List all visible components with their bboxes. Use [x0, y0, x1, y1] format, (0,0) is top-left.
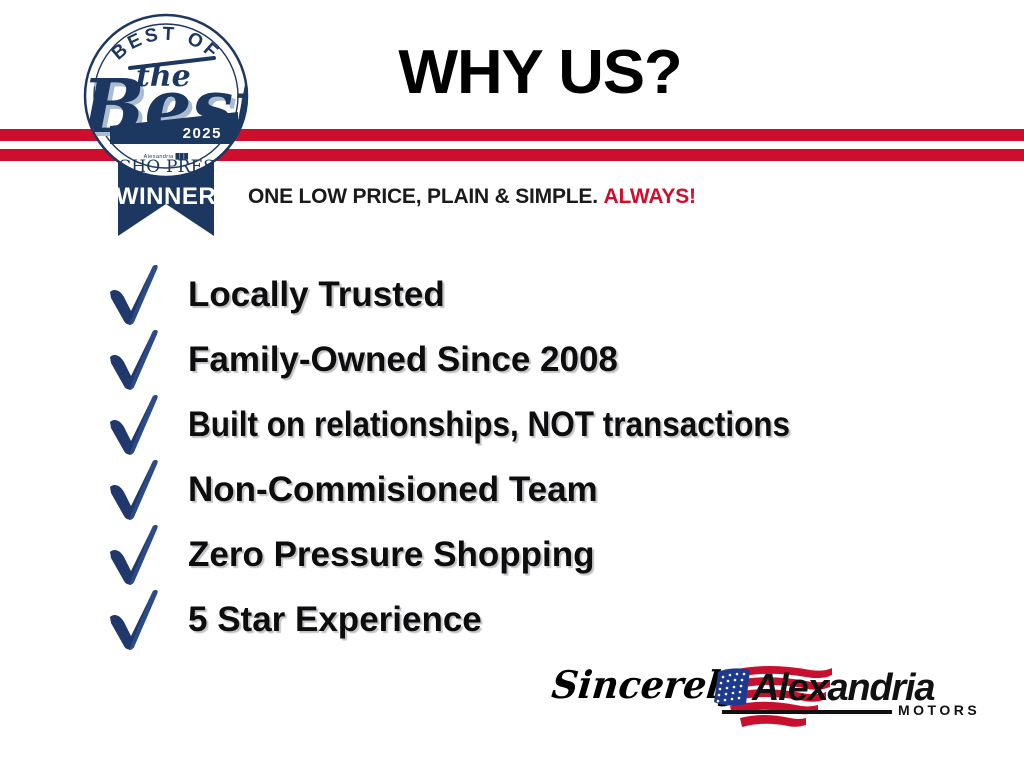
list-item: 5 Star Experience: [104, 587, 1004, 652]
page-title: WHY US?: [326, 42, 754, 104]
badge-ribbon-label: WINNER: [116, 183, 216, 210]
tagline-main: ONE LOW PRICE, PLAIN & SIMPLE.: [248, 185, 598, 208]
checkmark-icon: [104, 524, 170, 586]
badge-graphic: WINNER BEST OF Best Best the: [62, 8, 270, 236]
list-item-label: 5 Star Experience: [188, 599, 482, 641]
tagline: ONE LOW PRICE, PLAIN & SIMPLE. ALWAYS!: [248, 184, 696, 210]
slide-canvas: WINNER BEST OF Best Best the: [0, 0, 1024, 768]
checkmark-icon: [104, 329, 170, 391]
list-item: Family-Owned Since 2008: [104, 327, 1004, 392]
list-item-label: Built on relationships, NOT transactions: [188, 404, 790, 446]
list-item-label: Non-Commisioned Team: [188, 469, 598, 511]
list-item: Locally Trusted: [104, 262, 1004, 327]
best-of-the-best-badge: WINNER BEST OF Best Best the: [62, 8, 270, 236]
badge-year-label: 2025: [183, 125, 222, 142]
checkmark-icon: [104, 459, 170, 521]
list-item: Non-Commisioned Team: [104, 457, 1004, 522]
benefits-list: Locally Trusted Family-Owned Since 2008 …: [104, 262, 1004, 652]
list-item-label: Locally Trusted: [188, 274, 445, 316]
list-item: Zero Pressure Shopping: [104, 522, 1004, 587]
checkmark-icon: [104, 394, 170, 456]
list-item-label: Family-Owned Since 2008: [188, 339, 618, 381]
checkmark-icon: [104, 264, 170, 326]
logo-brand-subtitle: MOTORS: [898, 702, 980, 718]
list-item-label: Zero Pressure Shopping: [188, 534, 594, 576]
tagline-accent: ALWAYS!: [604, 185, 696, 208]
logo-divider-rule: [722, 710, 892, 714]
alexandria-motors-logo: Alexandria MOTORS: [706, 660, 958, 732]
checkmark-icon: [104, 589, 170, 651]
list-item: Built on relationships, NOT transactions: [104, 392, 1004, 457]
